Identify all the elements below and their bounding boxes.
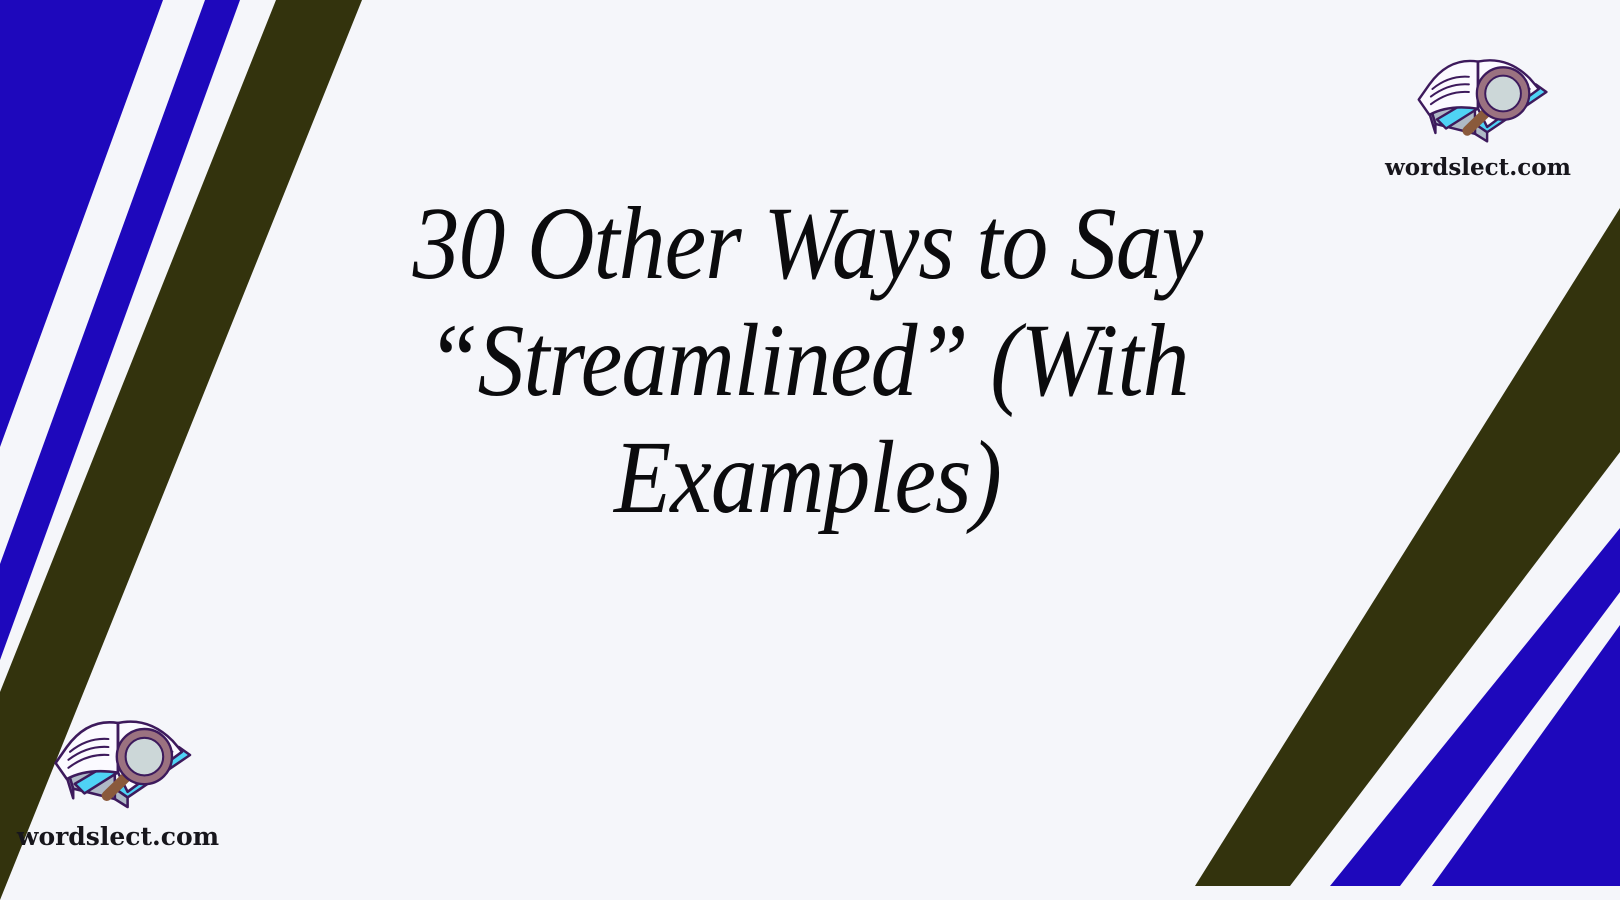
left-blue-wedge [0, 0, 163, 447]
logo-text-bottom-left: wordslect.com [17, 822, 219, 851]
left-blue-stripe [0, 0, 240, 660]
right-blue-wedge [1432, 625, 1620, 886]
open-book-with-magnifier-icon [1402, 34, 1554, 150]
logo-bottom-left[interactable]: wordslect.com [18, 694, 218, 851]
page-title: 30 Other Ways to Say “Streamlined” (With… [270, 185, 1345, 536]
title-line-1: 30 Other Ways to Say [324, 185, 1292, 302]
title-line-2: “Streamlined” (With [324, 302, 1292, 419]
title-card: 30 Other Ways to Say “Streamlined” (With… [0, 0, 1620, 900]
right-blue-stripe [1330, 528, 1620, 886]
logo-top-right[interactable]: wordslect.com [1378, 34, 1578, 181]
open-book-with-magnifier-icon [38, 694, 198, 816]
title-line-3: Examples) [324, 419, 1292, 536]
logo-text-top-right: wordslect.com [1385, 154, 1571, 181]
